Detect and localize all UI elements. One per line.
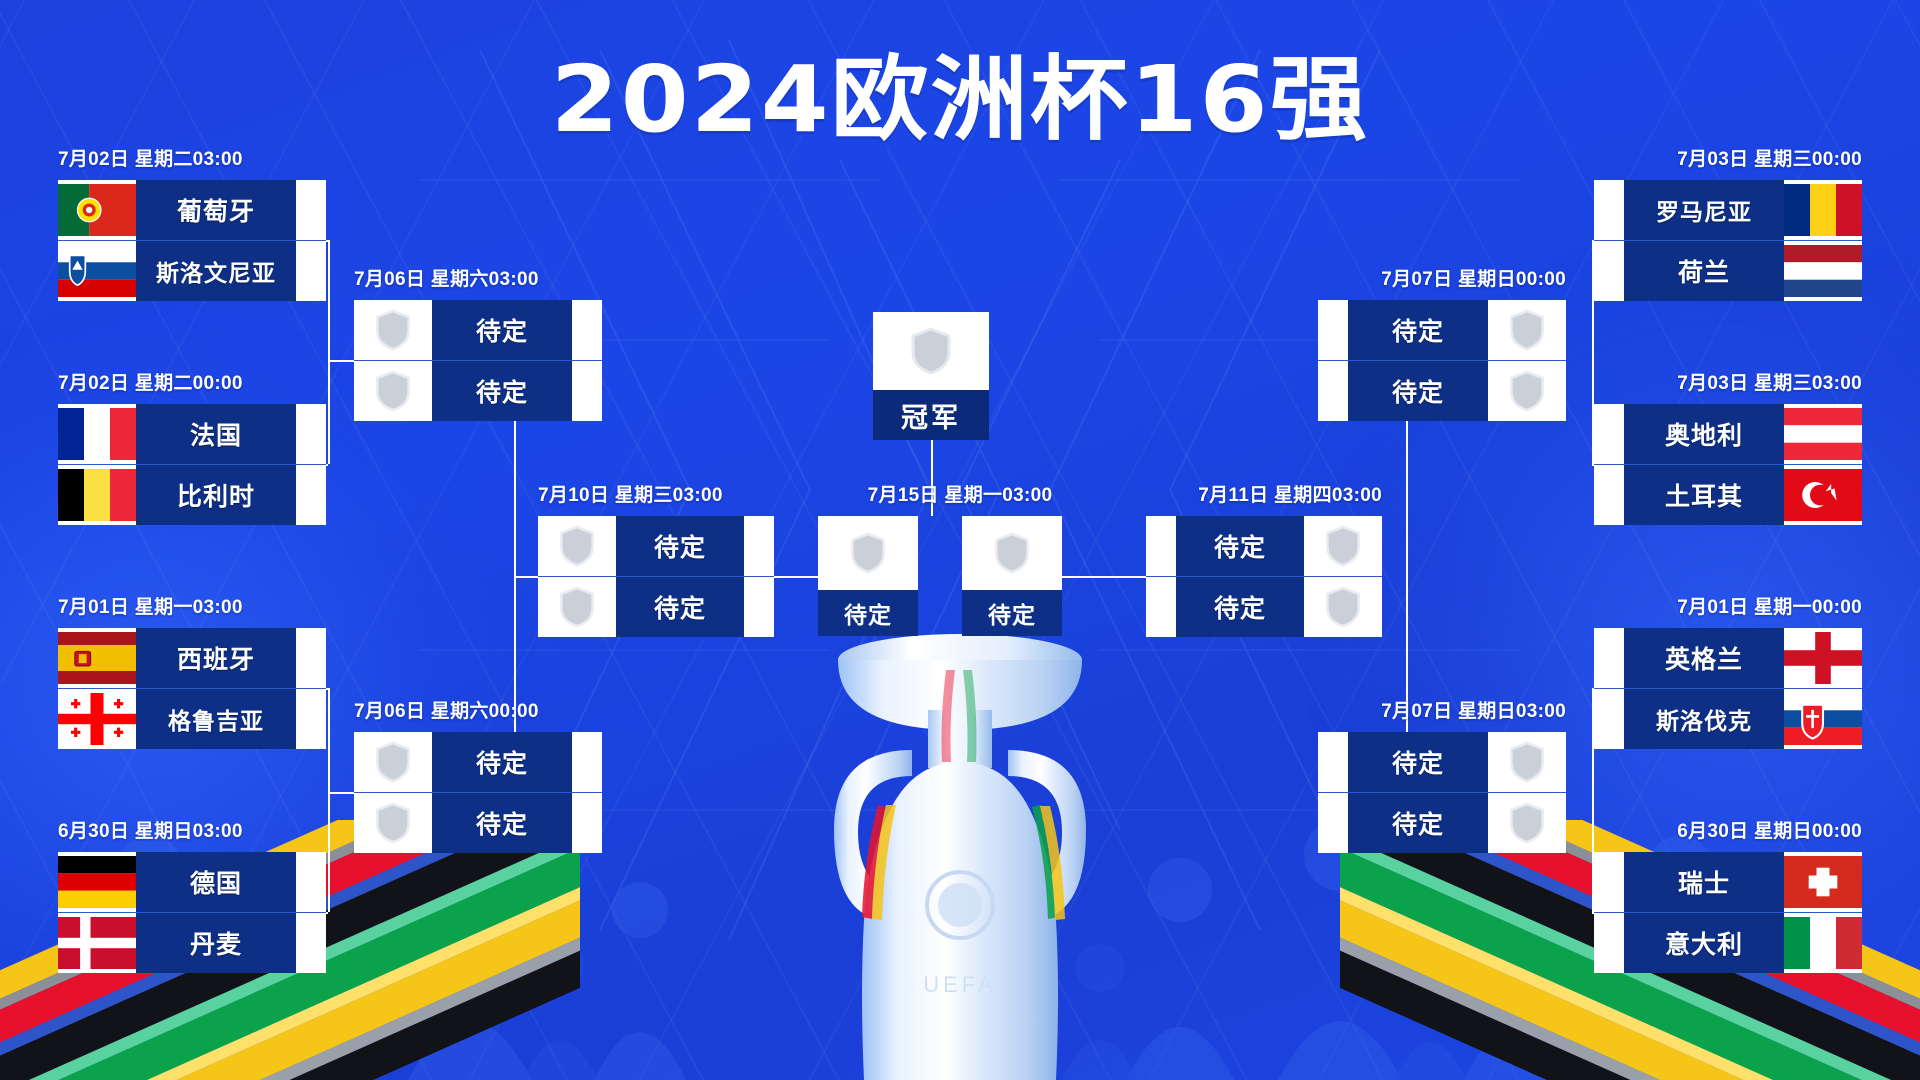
shield-placeholder: [818, 516, 918, 590]
connector-v: [1406, 360, 1408, 792]
shield-icon: [1508, 740, 1546, 784]
shield-icon: [909, 326, 953, 376]
shield-icon: [1508, 369, 1546, 413]
team-name: 待定: [1348, 732, 1488, 792]
flag-belgium: [58, 465, 136, 525]
shield-placeholder: [1488, 361, 1566, 421]
team-name: 格鲁吉亚: [136, 689, 296, 749]
team-name: 待定: [616, 577, 744, 637]
connector-stub: [744, 577, 774, 637]
match-qf-left-1[interactable]: 待定待定: [354, 732, 602, 853]
match-row[interactable]: 法国: [58, 404, 326, 464]
final-slot-1[interactable]: 待定: [962, 516, 1062, 636]
date-sf-right: 7月11日 星期四03:00: [1198, 480, 1382, 507]
match-sf-right[interactable]: 待定待定: [1146, 516, 1382, 637]
connector-v: [328, 240, 330, 464]
connector-stub: [1318, 361, 1348, 421]
match-qf-right-0[interactable]: 待定待定: [1318, 300, 1566, 421]
connector-stub: [296, 628, 326, 688]
date-r16-right-2: 7月01日 星期一00:00: [1677, 592, 1862, 619]
flag-turkey: [1784, 465, 1862, 525]
shield-placeholder: [354, 300, 432, 360]
team-name: 奥地利: [1624, 404, 1784, 464]
match-row[interactable]: 奥地利: [1594, 404, 1862, 464]
match-row[interactable]: 丹麦: [58, 912, 326, 973]
flag-austria: [1784, 404, 1862, 464]
match-r16-left-2[interactable]: 西班牙格鲁吉亚: [58, 628, 326, 749]
match-row[interactable]: 意大利: [1594, 912, 1862, 973]
match-row[interactable]: 待定: [1318, 300, 1566, 360]
connector-stub: [296, 913, 326, 973]
match-row[interactable]: 瑞士: [1594, 852, 1862, 912]
team-name: 待定: [1176, 577, 1304, 637]
date-qf-right-1: 7月07日 星期日03:00: [1381, 696, 1566, 723]
shield-icon: [1324, 524, 1362, 568]
champion-box[interactable]: 冠军: [873, 312, 989, 440]
team-name: 斯洛文尼亚: [136, 241, 296, 301]
connector-stub: [1594, 465, 1624, 525]
team-name: 待定: [432, 361, 572, 421]
shield-placeholder: [962, 516, 1062, 590]
date-r16-left-1: 7月02日 星期二00:00: [58, 368, 243, 395]
team-name: 葡萄牙: [136, 180, 296, 240]
shield-placeholder: [354, 732, 432, 792]
connector-stub: [296, 241, 326, 301]
connector-h: [326, 912, 328, 914]
match-qf-right-1[interactable]: 待定待定: [1318, 732, 1566, 853]
match-row[interactable]: 待定: [354, 792, 602, 853]
shield-placeholder: [538, 577, 616, 637]
connector-stub: [1594, 852, 1624, 912]
team-name: 比利时: [136, 465, 296, 525]
shield-placeholder: [1488, 732, 1566, 792]
match-row[interactable]: 待定: [354, 360, 602, 421]
connector-stub: [1318, 793, 1348, 853]
date-sf-left: 7月10日 星期三03:00: [538, 480, 723, 507]
match-row[interactable]: 葡萄牙: [58, 180, 326, 240]
connector-stub: [296, 180, 326, 240]
shield-icon: [993, 531, 1031, 575]
connector-stub: [1318, 300, 1348, 360]
date-r16-left-0: 7月02日 星期二03:00: [58, 144, 243, 171]
shield-icon: [374, 801, 412, 845]
team-name: 待定: [432, 793, 572, 853]
team-name: 荷兰: [1624, 241, 1784, 301]
connector-h: [326, 464, 328, 466]
team-name: 待定: [1348, 300, 1488, 360]
connector-stub: [296, 465, 326, 525]
connector-stub: [744, 516, 774, 576]
team-name: 待定: [1348, 361, 1488, 421]
connector-stub: [572, 793, 602, 853]
date-qf-left-1: 7月06日 星期六00:00: [354, 696, 539, 723]
connector-h: [328, 360, 354, 362]
team-name: 土耳其: [1624, 465, 1784, 525]
svg-text:UEFA: UEFA: [923, 972, 996, 997]
connector-stub: [1594, 628, 1624, 688]
shield-icon: [558, 524, 596, 568]
flag-spain: [58, 628, 136, 688]
connector-h: [328, 792, 354, 794]
match-row[interactable]: 待定: [538, 576, 774, 637]
connector-stub: [1594, 404, 1624, 464]
team-name: 待定: [1348, 793, 1488, 853]
team-name: 待定: [432, 732, 572, 792]
connector-v: [328, 688, 330, 912]
team-name: 丹麦: [136, 913, 296, 973]
match-r16-left-0[interactable]: 葡萄牙斯洛文尼亚: [58, 180, 326, 301]
shield-icon: [374, 740, 412, 784]
shield-placeholder: [538, 516, 616, 576]
match-row[interactable]: 荷兰: [1594, 240, 1862, 301]
shield-placeholder: [354, 361, 432, 421]
connector-stub: [296, 404, 326, 464]
shield-placeholder: [1304, 516, 1382, 576]
date-final: 7月15日 星期一03:00: [868, 480, 1053, 507]
shield-icon: [1508, 308, 1546, 352]
match-r16-left-1[interactable]: 法国比利时: [58, 404, 326, 525]
page-title: 2024欧洲杯16强: [0, 54, 1920, 146]
connector-stub: [1594, 180, 1624, 240]
champion-label: 冠军: [873, 390, 989, 440]
flag-netherlands: [1784, 241, 1862, 301]
connector-stub: [296, 852, 326, 912]
match-r16-left-3[interactable]: 德国丹麦: [58, 852, 326, 973]
champion-shield: [873, 312, 989, 390]
connector-stub: [1318, 732, 1348, 792]
date-qf-right-0: 7月07日 星期日00:00: [1381, 264, 1566, 291]
connector-h-final-right: [1062, 576, 1146, 578]
match-row[interactable]: 德国: [58, 852, 326, 912]
match-r16-right-0[interactable]: 罗马尼亚荷兰: [1594, 180, 1862, 301]
connector-stub: [1594, 689, 1624, 749]
match-row[interactable]: 待定: [1318, 360, 1566, 421]
date-r16-right-1: 7月03日 星期三03:00: [1677, 368, 1862, 395]
team-name: 罗马尼亚: [1624, 180, 1784, 240]
flag-france: [58, 404, 136, 464]
flag-portugal: [58, 180, 136, 240]
match-row[interactable]: 待定: [1146, 516, 1382, 576]
flag-germany: [58, 852, 136, 912]
connector-stub: [572, 361, 602, 421]
connector-stub: [572, 732, 602, 792]
team-name: 意大利: [1624, 913, 1784, 973]
shield-icon: [1508, 801, 1546, 845]
shield-icon: [374, 308, 412, 352]
match-r16-right-2[interactable]: 英格兰斯洛伐克: [1594, 628, 1862, 749]
connector-stub: [572, 300, 602, 360]
shield-icon: [1324, 585, 1362, 629]
match-sf-left[interactable]: 待定待定: [538, 516, 774, 637]
shield-placeholder: [1488, 793, 1566, 853]
flag-england: [1784, 628, 1862, 688]
flag-slovenia: [58, 241, 136, 301]
match-row[interactable]: 待定: [1318, 732, 1566, 792]
match-row[interactable]: 格鲁吉亚: [58, 688, 326, 749]
final-team-name: 待定: [962, 590, 1062, 636]
date-r16-left-2: 7月01日 星期一03:00: [58, 592, 243, 619]
final-slot-0[interactable]: 待定: [818, 516, 918, 636]
connector-h: [514, 576, 538, 578]
date-qf-left-0: 7月06日 星期六03:00: [354, 264, 539, 291]
team-name: 德国: [136, 852, 296, 912]
match-row[interactable]: 比利时: [58, 464, 326, 525]
date-r16-left-3: 6月30日 星期日03:00: [58, 816, 243, 843]
team-name: 待定: [1176, 516, 1304, 576]
match-row[interactable]: 英格兰: [1594, 628, 1862, 688]
flag-italy: [1784, 913, 1862, 973]
match-row[interactable]: 待定: [1318, 792, 1566, 853]
match-r16-right-3[interactable]: 瑞士意大利: [1594, 852, 1862, 973]
match-row[interactable]: 西班牙: [58, 628, 326, 688]
date-r16-right-3: 6月30日 星期日00:00: [1677, 816, 1862, 843]
uefa-trophy: UEFA: [760, 600, 1160, 1080]
shield-placeholder: [1488, 300, 1566, 360]
match-qf-left-0[interactable]: 待定待定: [354, 300, 602, 421]
flag-romania: [1784, 180, 1862, 240]
connector-h-final-left: [774, 576, 818, 578]
shield-icon: [558, 585, 596, 629]
match-row[interactable]: 斯洛伐克: [1594, 688, 1862, 749]
flag-denmark: [58, 913, 136, 973]
shield-icon: [374, 369, 412, 413]
team-name: 英格兰: [1624, 628, 1784, 688]
match-row[interactable]: 斯洛文尼亚: [58, 240, 326, 301]
flag-georgia: [58, 689, 136, 749]
match-row[interactable]: 待定: [1146, 576, 1382, 637]
team-name: 瑞士: [1624, 852, 1784, 912]
flag-slovakia: [1784, 689, 1862, 749]
connector-stub: [1594, 241, 1624, 301]
match-row[interactable]: 待定: [354, 732, 602, 792]
shield-placeholder: [1304, 577, 1382, 637]
date-r16-right-0: 7月03日 星期三00:00: [1677, 144, 1862, 171]
shield-icon: [849, 531, 887, 575]
match-r16-right-1[interactable]: 奥地利土耳其: [1594, 404, 1862, 525]
connector-stub: [1594, 913, 1624, 973]
match-row[interactable]: 待定: [354, 300, 602, 360]
team-name: 待定: [616, 516, 744, 576]
shield-placeholder: [354, 793, 432, 853]
connector-stub: [1146, 577, 1176, 637]
final-team-name: 待定: [818, 590, 918, 636]
team-name: 斯洛伐克: [1624, 689, 1784, 749]
connector-stub: [1146, 516, 1176, 576]
match-row[interactable]: 待定: [538, 516, 774, 576]
match-row[interactable]: 土耳其: [1594, 464, 1862, 525]
match-row[interactable]: 罗马尼亚: [1594, 180, 1862, 240]
team-name: 法国: [136, 404, 296, 464]
team-name: 待定: [432, 300, 572, 360]
team-name: 西班牙: [136, 628, 296, 688]
connector-stub: [296, 689, 326, 749]
flag-switzerland: [1784, 852, 1862, 912]
